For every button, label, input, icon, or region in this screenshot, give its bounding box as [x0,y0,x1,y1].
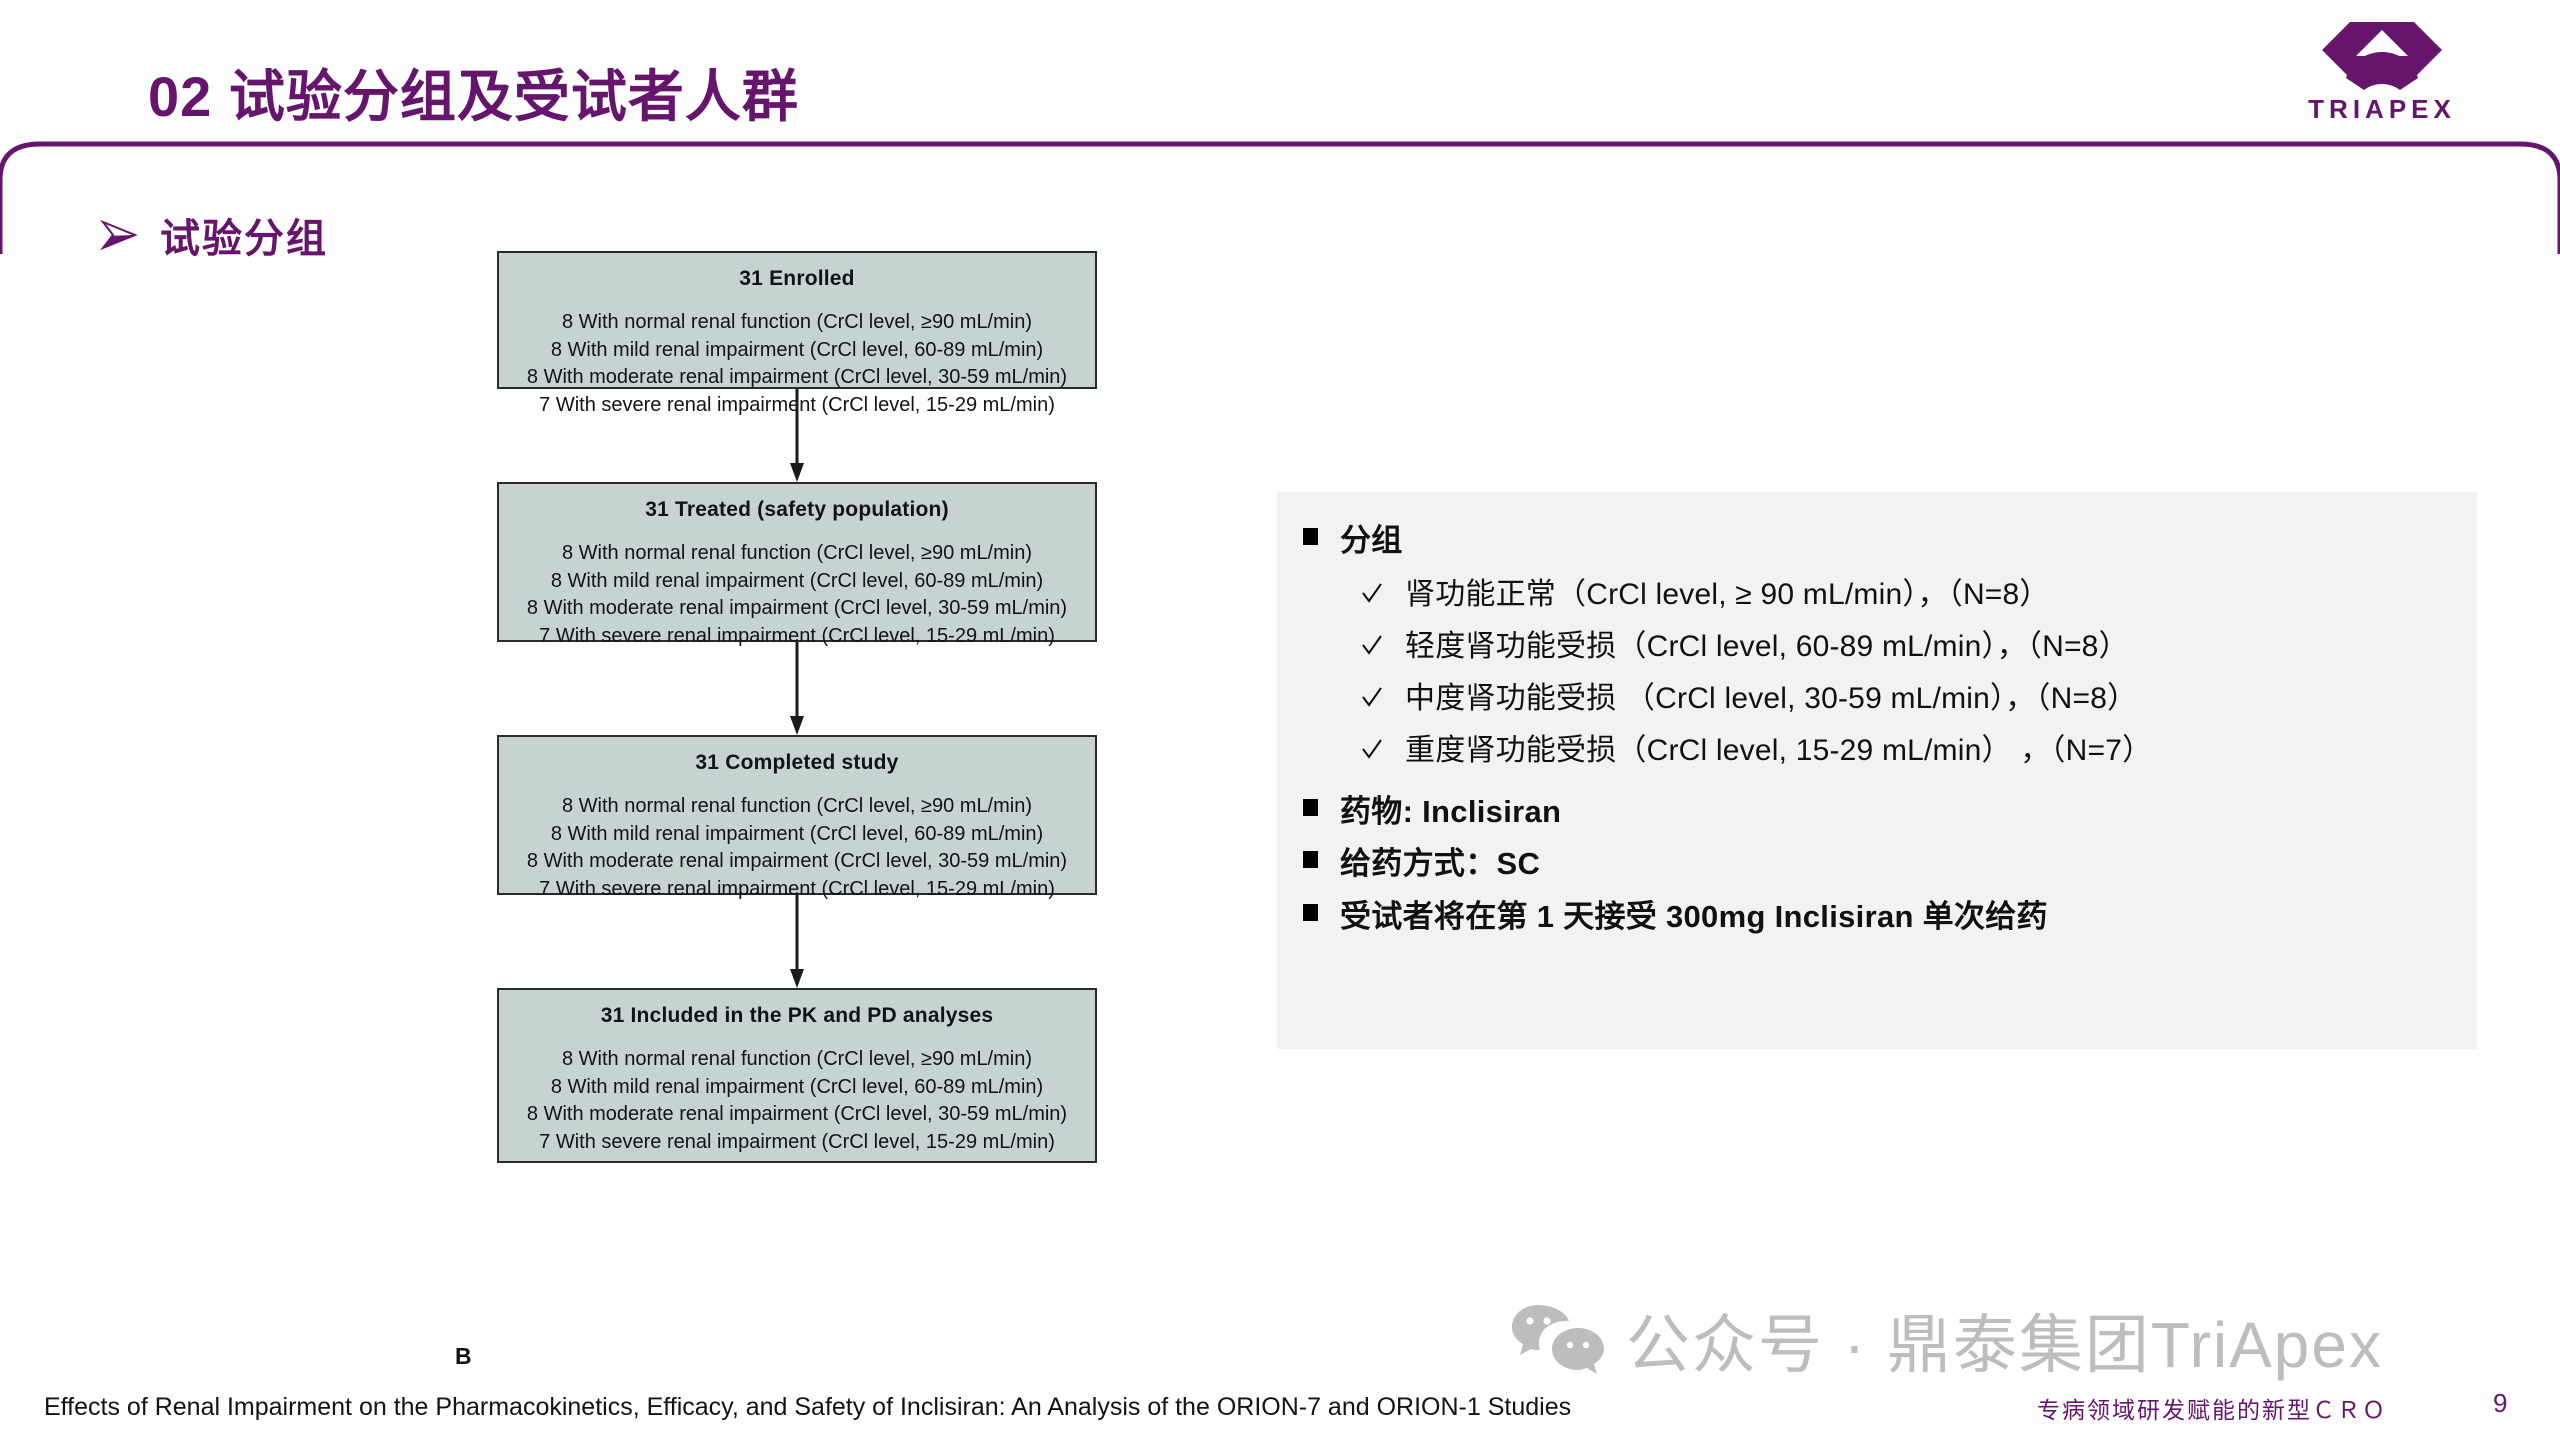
company-tagline: 专病领域研发赋能的新型ＣＲＯ [2037,1391,2387,1425]
flow-box-completed: 31 Completed study 8 With normal renal f… [497,735,1097,895]
info-group-item-label: 重度肾功能受损（CrCl level, 15-29 mL/min） ，（N=7） [1405,727,2152,775]
flow-box-line: 8 With moderate renal impairment (CrCl l… [509,364,1085,392]
flow-box-treated: 31 Treated (safety population) 8 With no… [497,482,1097,642]
triapex-logo: TRIAPEX [2292,18,2472,126]
info-group-item: 肾功能正常（CrCl level, ≥ 90 mL/min），（N=8） [1361,571,2457,619]
info-dosing-label: 受试者将在第 1 天接受 300mg Inclisiran 单次给药 [1340,894,2048,941]
watermark-label: 公众号 · 鼎泰集团TriApex [1626,1294,2383,1386]
info-group-heading: 分组 [1340,518,1403,565]
flow-box-line: 8 With normal renal function (CrCl level… [509,1046,1085,1074]
check-icon [1361,737,1383,761]
flow-box-enrolled: 31 Enrolled 8 With normal renal function… [497,251,1097,389]
flow-connector-arrow [497,642,1097,735]
info-group-item: 轻度肾功能受损（CrCl level, 60-89 mL/min），（N=8） [1361,623,2457,671]
square-bullet-icon [1303,528,1318,545]
flow-box-line: 8 With normal renal function (CrCl level… [509,309,1085,337]
flow-box-pk-pd-analyses: 31 Included in the PK and PD analyses 8 … [497,988,1097,1163]
check-icon [1361,581,1383,605]
check-icon [1361,633,1383,657]
info-group-item: 中度肾功能受损 （CrCl level, 30-59 mL/min），（N=8） [1361,675,2457,723]
square-bullet-icon [1303,904,1318,921]
flow-connector-arrow [497,895,1097,988]
study-info-content: 分组 肾功能正常（CrCl level, ≥ 90 mL/min），（N=8） … [1277,492,2477,1049]
trial-flowchart: 31 Enrolled 8 With normal renal function… [497,251,1097,1163]
section-heading: 试验分组 [100,206,328,264]
flow-box-line: 8 With moderate renal impairment (CrCl l… [509,595,1085,623]
info-group-item-label: 肾功能正常（CrCl level, ≥ 90 mL/min），（N=8） [1405,571,2050,619]
info-group-item: 重度肾功能受损（CrCl level, 15-29 mL/min） ，（N=7） [1361,727,2457,775]
source-citation: Effects of Renal Impairment on the Pharm… [44,1393,1571,1422]
section-heading-label: 试验分组 [160,206,328,264]
info-group-item-label: 中度肾功能受损 （CrCl level, 30-59 mL/min），（N=8） [1405,675,2137,723]
page-number: 9 [2493,1388,2507,1419]
info-dosing-row: 受试者将在第 1 天接受 300mg Inclisiran 单次给药 [1303,894,2457,941]
info-route-row: 给药方式：SC [1303,841,2457,888]
flow-box-line: 8 With moderate renal impairment (CrCl l… [509,1101,1085,1129]
info-group-item-label: 轻度肾功能受损（CrCl level, 60-89 mL/min），（N=8） [1405,623,2129,671]
triapex-mark-icon [2320,18,2444,92]
wechat-icon [1512,1303,1604,1377]
info-drug-row: 药物: Inclisiran [1303,789,2457,836]
page-title: 02 试验分组及受试者人群 [148,52,799,133]
flow-box-line: 8 With mild renal impairment (CrCl level… [509,337,1085,365]
flow-box-heading: 31 Included in the PK and PD analyses [509,1004,1085,1028]
flow-box-line: 8 With mild renal impairment (CrCl level… [509,568,1085,596]
flow-box-line: 8 With mild renal impairment (CrCl level… [509,1074,1085,1102]
flow-box-heading: 31 Completed study [509,751,1085,775]
info-route-label: 给药方式：SC [1340,841,1540,888]
info-drug-label: 药物: Inclisiran [1340,789,1561,836]
flow-box-line: 7 With severe renal impairment (CrCl lev… [509,1129,1085,1157]
info-group-heading-row: 分组 [1303,518,2457,565]
square-bullet-icon [1303,851,1318,868]
header-divider-rule [0,136,2560,256]
flow-box-line: 8 With normal renal function (CrCl level… [509,540,1085,568]
figure-panel-label: B [455,1343,472,1370]
chevron-right-arrow-icon [100,219,138,251]
logo-wordmark: TRIAPEX [2292,94,2472,125]
flow-box-line: 8 With normal renal function (CrCl level… [509,793,1085,821]
wechat-watermark: 公众号 · 鼎泰集团TriApex [1512,1294,2383,1386]
flow-box-heading: 31 Treated (safety population) [509,498,1085,522]
flow-box-line: 8 With moderate renal impairment (CrCl l… [509,848,1085,876]
flow-box-heading: 31 Enrolled [509,267,1085,291]
square-bullet-icon [1303,799,1318,816]
check-icon [1361,685,1383,709]
flow-box-line: 8 With mild renal impairment (CrCl level… [509,821,1085,849]
